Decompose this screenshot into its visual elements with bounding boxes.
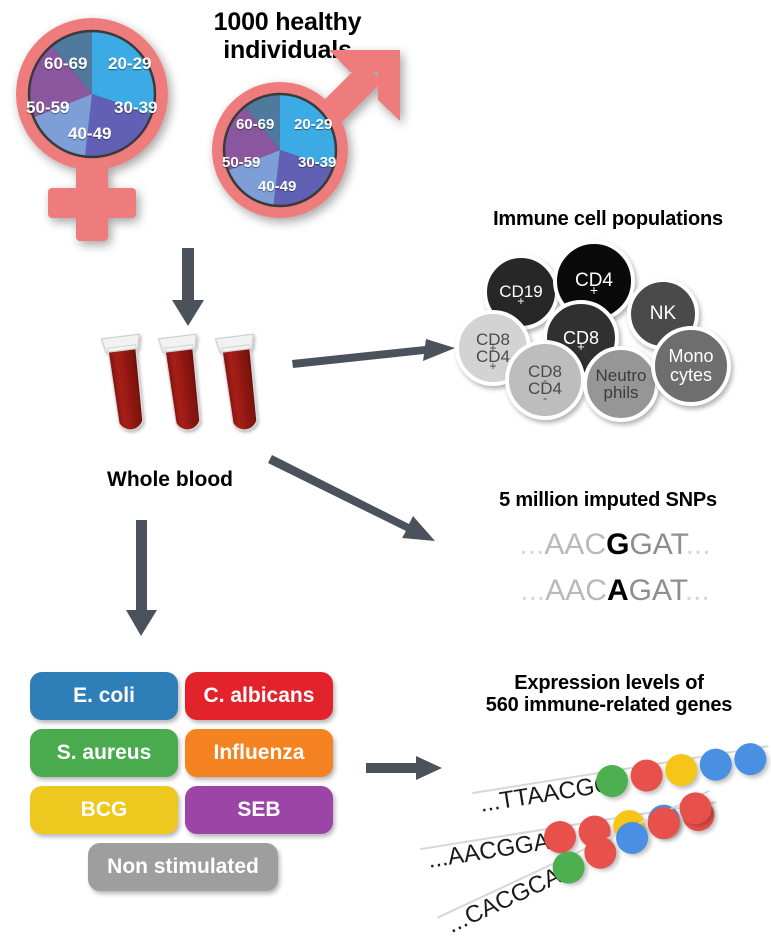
figure-canvas: 1000 healthy individuals (0, 0, 771, 922)
immune-cell-label: CD8+ (563, 329, 599, 348)
stimulus-bcg[interactable]: BCG (30, 786, 178, 834)
whole-blood-label: Whole blood (60, 468, 280, 492)
stimulus-label: SEB (237, 798, 280, 822)
snp-left-bases: AAC (545, 574, 607, 607)
snps-title: 5 million imputed SNPs (448, 489, 768, 511)
immune-cell-neutrophils[interactable]: Neutrophils (583, 346, 659, 422)
stimulus-label: C. albicans (204, 684, 315, 708)
strand-sequence: ...TTAACGG (478, 770, 615, 819)
snp-suffix-ellipsis: ... (686, 528, 711, 561)
arrow-blood-to-cells (292, 330, 457, 370)
stimulus-label: BCG (81, 798, 128, 822)
arrow-individuals-to-blood (168, 248, 208, 328)
immune-cell-cluster: CD19+CD4+NKCD8+CD4+CD8+CD8-CD4-Neutrophi… (455, 240, 755, 420)
snp-left-bases: AAC (544, 528, 606, 561)
stimulus-label: Non stimulated (107, 855, 259, 879)
stimulus-s-aureus[interactable]: S. aureus (30, 729, 178, 777)
immune-cell-label: NK (650, 304, 676, 324)
stimulus-c-albicans[interactable]: C. albicans (185, 672, 333, 720)
arrow-stimuli-to-expression (366, 752, 444, 784)
stimulus-influenza[interactable]: Influenza (185, 729, 333, 777)
snp-variant-base: A (607, 574, 629, 607)
expression-title-line2: 560 immune-related genes (448, 694, 770, 716)
snp-prefix-ellipsis: ... (520, 574, 545, 607)
female-symbol-glyph (8, 10, 208, 250)
snp-suffix-ellipsis: ... (685, 574, 710, 607)
immune-cell-label: CD8+CD4+ (476, 331, 510, 366)
arrow-blood-to-stimuli (120, 520, 164, 638)
stimulus-e-coli[interactable]: E. coli (30, 672, 178, 720)
stimulus-label: E. coli (73, 684, 135, 708)
expression-strands: ...TTAACGG...AACGGAT...CACGCAA (440, 725, 771, 910)
arrow-blood-to-snps (272, 455, 452, 547)
cohort-title-line1: 1000 healthy (175, 8, 400, 36)
expression-title-line1: Expression levels of (448, 672, 770, 694)
snp-prefix-ellipsis: ... (519, 528, 544, 561)
blood-tubes-illustration (100, 330, 290, 455)
immune-cell-title: Immune cell populations (448, 208, 768, 230)
male-gender-symbol: 20-29 30-39 40-49 50-59 60-69 (196, 38, 411, 243)
stimulus-label: Influenza (213, 741, 304, 765)
snp-right-bases: GAT (629, 528, 685, 561)
snp-right-bases: GAT (629, 574, 685, 607)
snp-variant-base: G (606, 528, 629, 561)
stimulus-label: S. aureus (57, 741, 152, 765)
male-symbol-glyph (196, 38, 411, 243)
snp-sequences: ...AACGGAT......AACAGAT... (470, 528, 760, 618)
snp-sequence-row: ...AACGGAT... (470, 528, 760, 562)
immune-cell-label: Neutrophils (595, 367, 646, 402)
snp-sequence-row: ...AACAGAT... (470, 574, 760, 608)
female-gender-symbol: 20-29 30-39 40-49 50-59 60-69 (8, 10, 208, 250)
immune-cell-cd8-cd4[interactable]: CD8-CD4- (505, 340, 585, 420)
expression-title: Expression levels of 560 immune-related … (448, 672, 770, 717)
immune-cell-monocytes[interactable]: Monocytes (651, 326, 731, 406)
immune-cell-label: Monocytes (668, 347, 713, 384)
stimuli-panel: E. coliC. albicansS. aureusInfluenzaBCGS… (30, 672, 350, 907)
immune-cell-label: CD19+ (499, 283, 542, 301)
stimulus-seb[interactable]: SEB (185, 786, 333, 834)
stimulus-non-stimulated[interactable]: Non stimulated (88, 843, 278, 891)
immune-cell-label: CD4+ (575, 271, 613, 291)
immune-cell-label: CD8-CD4- (528, 363, 562, 398)
